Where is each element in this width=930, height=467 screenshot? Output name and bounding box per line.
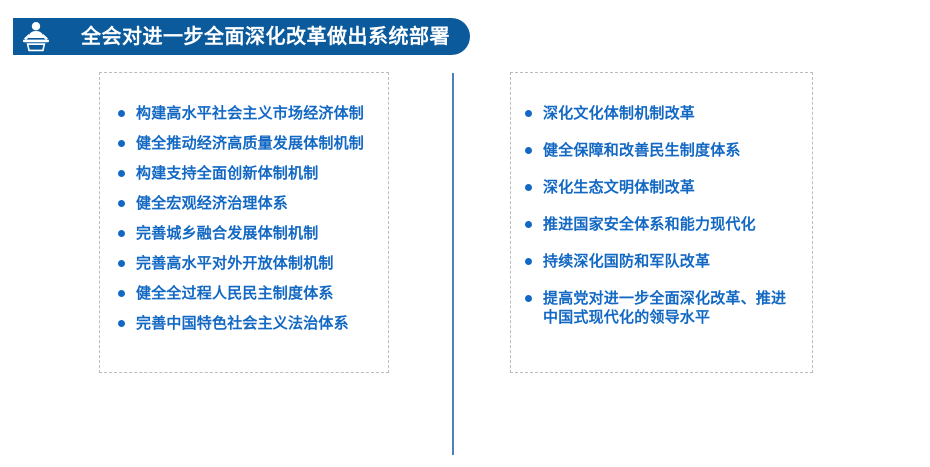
list-item-label: 完善城乡融合发展体制机制 xyxy=(136,224,386,243)
list-item-label: 持续深化国防和军队改革 xyxy=(543,252,807,271)
list-item: 提高党对进一步全面深化改革、推进 中国式现代化的领导水平 xyxy=(525,289,807,327)
list-item: 完善城乡融合发展体制机制 xyxy=(118,224,386,243)
bullet-dot-icon xyxy=(525,147,532,154)
list-item-label: 健全保障和改善民生制度体系 xyxy=(543,141,807,160)
list-item-label: 构建高水平社会主义市场经济体制 xyxy=(136,104,386,123)
list-item: 健全保障和改善民生制度体系 xyxy=(525,141,807,160)
list-item: 完善高水平对外开放体制机制 xyxy=(118,254,386,273)
list-item-label: 健全宏观经济治理体系 xyxy=(136,194,386,213)
left-bullet-list: 构建高水平社会主义市场经济体制 健全推动经济高质量发展体制机制 构建支持全面创新… xyxy=(118,104,386,344)
list-item: 健全宏观经济治理体系 xyxy=(118,194,386,213)
list-item: 构建高水平社会主义市场经济体制 xyxy=(118,104,386,123)
page-title: 全会对进一步全面深化改革做出系统部署 xyxy=(59,27,450,47)
bullet-dot-icon xyxy=(118,290,125,297)
list-item: 持续深化国防和军队改革 xyxy=(525,252,807,271)
bullet-dot-icon xyxy=(118,110,125,117)
column-divider xyxy=(452,73,454,455)
bullet-dot-icon xyxy=(118,260,125,267)
list-item-label: 提高党对进一步全面深化改革、推进 中国式现代化的领导水平 xyxy=(543,289,807,327)
list-item: 深化文化体制机制改革 xyxy=(525,104,807,123)
bullet-dot-icon xyxy=(525,184,532,191)
list-item-label: 健全全过程人民民主制度体系 xyxy=(136,284,386,303)
header-banner: 全会对进一步全面深化改革做出系统部署 xyxy=(13,18,470,55)
bullet-dot-icon xyxy=(118,140,125,147)
list-item: 完善中国特色社会主义法治体系 xyxy=(118,314,386,333)
bullet-dot-icon xyxy=(525,221,532,228)
list-item: 健全推动经济高质量发展体制机制 xyxy=(118,134,386,153)
list-item-label: 构建支持全面创新体制机制 xyxy=(136,164,386,183)
bullet-dot-icon xyxy=(118,320,125,327)
list-item: 健全全过程人民民主制度体系 xyxy=(118,284,386,303)
list-item-label: 深化文化体制机制改革 xyxy=(543,104,807,123)
list-item-label: 推进国家安全体系和能力现代化 xyxy=(543,215,807,234)
list-item-label: 完善中国特色社会主义法治体系 xyxy=(136,314,386,333)
bullet-dot-icon xyxy=(525,295,532,302)
list-item: 构建支持全面创新体制机制 xyxy=(118,164,386,183)
bullet-dot-icon xyxy=(118,200,125,207)
bullet-dot-icon xyxy=(525,258,532,265)
bullet-dot-icon xyxy=(118,230,125,237)
list-item-label: 深化生态文明体制改革 xyxy=(543,178,807,197)
list-item-label: 完善高水平对外开放体制机制 xyxy=(136,254,386,273)
list-item: 推进国家安全体系和能力现代化 xyxy=(525,215,807,234)
list-item: 深化生态文明体制改革 xyxy=(525,178,807,197)
right-bullet-list: 深化文化体制机制改革 健全保障和改善民生制度体系 深化生态文明体制改革 推进国家… xyxy=(525,104,807,345)
list-item-label: 健全推动经济高质量发展体制机制 xyxy=(136,134,386,153)
bullet-dot-icon xyxy=(525,110,532,117)
bullet-dot-icon xyxy=(118,170,125,177)
podium-speaker-icon xyxy=(13,18,59,55)
